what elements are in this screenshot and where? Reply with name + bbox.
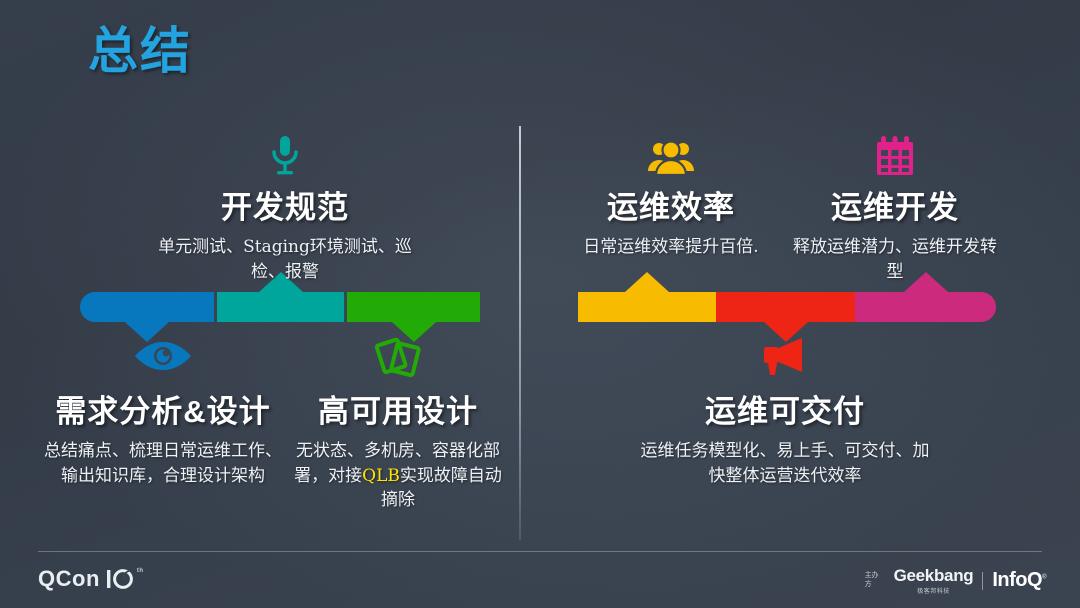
block-description: 运维任务模型化、易上手、可交付、加快整体运营迭代效率 (640, 439, 930, 488)
block-heading: 运维效率 (566, 182, 776, 227)
bar-segment-high-avail (347, 292, 480, 322)
block-description: 日常运维效率提升百倍. (566, 235, 776, 260)
eye-icon (38, 330, 288, 382)
block-description: 释放运维潜力、运维开发转型 (790, 235, 1000, 284)
footer-divider (38, 551, 1042, 552)
bar-segment-dev-spec (217, 292, 344, 322)
block-description: 总结痛点、梳理日常运维工作、输出知识库，合理设计架构 (38, 439, 288, 488)
left-process-bar (80, 292, 480, 322)
block-description: 无状态、多机房、容器化部署，对接QLB实现故障自动摘除 (288, 439, 508, 513)
block-ops-dev: 运维开发 释放运维潜力、运维开发转型 (790, 132, 1000, 284)
block-heading: 运维开发 (790, 182, 1000, 227)
qcon-logo-text: QCon (38, 566, 100, 592)
geekbang-name: Geekbang (894, 566, 974, 586)
sponsor-label: 主办方 (865, 572, 885, 588)
microphone-icon (150, 132, 420, 178)
center-divider (519, 126, 521, 540)
block-heading: 开发规范 (150, 182, 420, 227)
bar-segment-ops-dev (855, 292, 996, 322)
infoq-name: InfoQ (992, 569, 1042, 591)
megaphone-icon (640, 330, 930, 382)
desc-text-after: 实现故障自动摘除 (381, 466, 502, 511)
calendar-icon (790, 132, 1000, 178)
block-heading: 高可用设计 (288, 386, 508, 431)
right-process-bar (578, 292, 996, 322)
block-description: 单元测试、Staging环境测试、巡检、报警 (150, 235, 420, 284)
geekbang-subtitle: 极客邦科技 (917, 586, 950, 595)
sponsor-logos: 主办方 Geekbang 极客邦科技 InfoQ® (865, 566, 1046, 595)
qcon-logo: QCon th (38, 566, 144, 592)
bar-segment-delivery (716, 292, 855, 322)
users-group-icon (566, 132, 776, 178)
infoq-logo: InfoQ® (992, 569, 1046, 592)
desc-highlight: QLB (362, 466, 400, 486)
cards-icon (288, 330, 508, 382)
block-heading: 运维可交付 (640, 386, 930, 431)
arrow-up-icon (625, 272, 669, 292)
page-title: 总结 (88, 24, 192, 79)
sponsor-separator (982, 572, 983, 590)
block-high-avail: 高可用设计 无状态、多机房、容器化部署，对接QLB实现故障自动摘除 (288, 330, 508, 513)
bar-segment-requirement (80, 292, 214, 322)
infoq-registered-mark: ® (1042, 574, 1046, 580)
block-delivery: 运维可交付 运维任务模型化、易上手、可交付、加快整体运营迭代效率 (640, 330, 930, 488)
block-efficiency: 运维效率 日常运维效率提升百倍. (566, 132, 776, 260)
block-heading: 需求分析&设计 (38, 386, 288, 431)
presentation-slide: 总结 (0, 0, 1080, 608)
geekbang-logo: Geekbang 极客邦科技 (894, 566, 974, 595)
qcon-anniversary-mark: th (107, 568, 144, 590)
bar-segment-efficiency (578, 292, 716, 322)
qcon-ordinal: th (137, 568, 144, 574)
block-requirement: 需求分析&设计 总结痛点、梳理日常运维工作、输出知识库，合理设计架构 (38, 330, 288, 488)
block-dev-spec: 开发规范 单元测试、Staging环境测试、巡检、报警 (150, 132, 420, 284)
